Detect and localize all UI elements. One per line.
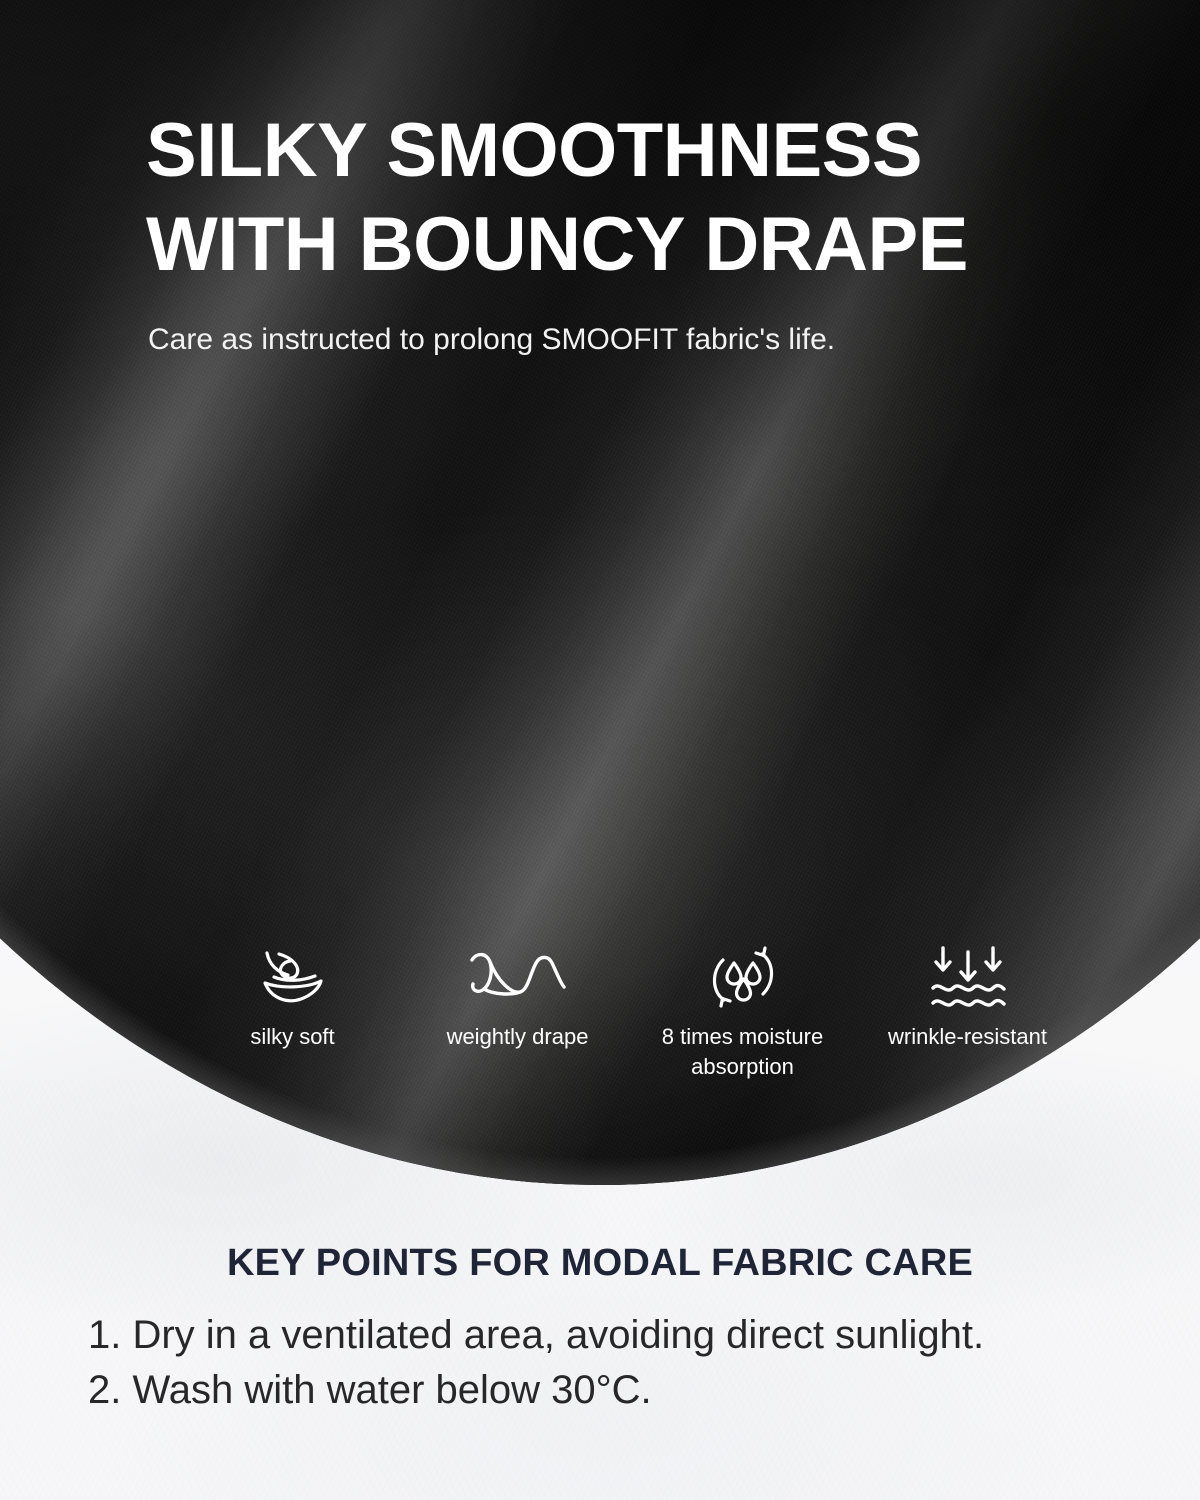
moisture-droplets-icon bbox=[704, 940, 782, 1014]
care-instruction-item: 1. Dry in a ventilated area, avoiding di… bbox=[88, 1308, 1148, 1363]
feature-list: silky soft weightly drape bbox=[180, 940, 1080, 1082]
feature-item-weightly-drape: weightly drape bbox=[405, 940, 630, 1052]
care-instruction-list: 1. Dry in a ventilated area, avoiding di… bbox=[88, 1308, 1148, 1418]
headline-line-1: SILKY SMOOTHNESS bbox=[146, 104, 1146, 198]
headline-line-2: WITH BOUNCY DRAPE bbox=[146, 198, 1146, 292]
silky-soft-icon bbox=[257, 940, 329, 1014]
hero-subtitle: Care as instructed to prolong SMOOFIT fa… bbox=[148, 320, 835, 360]
hero-headline: SILKY SMOOTHNESS WITH BOUNCY DRAPE bbox=[146, 104, 1146, 292]
care-section-heading: KEY POINTS FOR MODAL FABRIC CARE bbox=[0, 1240, 1200, 1286]
wrinkle-resistant-icon bbox=[928, 940, 1008, 1014]
feature-label: weightly drape bbox=[447, 1022, 589, 1052]
feature-label: wrinkle-resistant bbox=[888, 1022, 1047, 1052]
product-feature-poster: SILKY SMOOTHNESS WITH BOUNCY DRAPE Care … bbox=[0, 0, 1200, 1500]
feature-label: silky soft bbox=[250, 1022, 334, 1052]
feature-item-wrinkle-resistant: wrinkle-resistant bbox=[855, 940, 1080, 1052]
care-instruction-item: 2. Wash with water below 30°C. bbox=[88, 1363, 1148, 1418]
feature-item-silky-soft: silky soft bbox=[180, 940, 405, 1052]
drape-wave-icon bbox=[468, 940, 568, 1014]
feature-item-moisture-absorption: 8 times moisture absorption bbox=[630, 940, 855, 1082]
feature-label: 8 times moisture absorption bbox=[643, 1022, 843, 1082]
